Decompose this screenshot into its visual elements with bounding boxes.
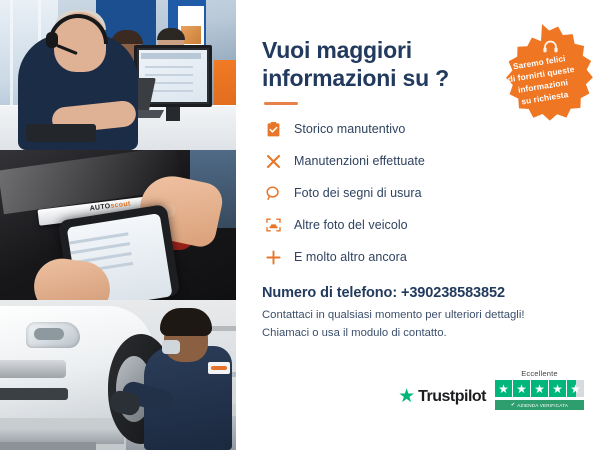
headline-line-2: informazioni su ? [262,65,449,91]
callout-badge: Saremo felici di fornirti queste informa… [490,22,594,126]
promo-card: AUTOscout Vuoi maggiori informazioni su … [0,0,600,450]
list-item: Foto dei segni di usura [262,183,578,203]
page-title: Vuoi maggiori informazioni su ? [262,36,477,92]
trustpilot-rating-label: Eccellente [521,369,558,378]
photo-call-center [0,0,236,150]
star-filled: ★ [549,380,566,397]
headline-line-1: Vuoi maggiori [262,37,412,63]
star-filled: ★ [513,380,530,397]
magnifier-icon [262,183,284,203]
contact-subtext-line-1: Contattaci in qualsiasi momento per ulte… [262,309,524,321]
feature-list: Storico manutentivo Manutenzioni effettu… [262,119,578,267]
title-divider [264,102,298,105]
feature-label: E molto altro ancora [294,250,407,264]
feature-label: Foto dei segni di usura [294,186,422,200]
trustpilot-star-icon: ★ [398,387,415,406]
contact-subtext-line-2: Chiamaci o usa il modulo di contatto. [262,327,447,339]
check-shield-icon: ✔ [511,402,515,408]
photo-column: AUTOscout [0,0,236,450]
list-item: E molto altro ancora [262,247,578,267]
trustpilot-stars: ★ ★ ★ ★ ★ [495,380,584,397]
phone-number[interactable]: Numero di telefono: +390238583852 [262,285,578,301]
trustpilot-logo: ★ Trustpilot [398,387,486,410]
content-panel: Vuoi maggiori informazioni su ? Saremo f… [236,0,600,450]
verified-badge-label: AZIENDA VERIFICATA [517,403,568,408]
trustpilot-rating-block: Eccellente ★ ★ ★ ★ ★ ✔ AZIENDA VERIFICAT… [495,369,584,410]
verified-badge: ✔ AZIENDA VERIFICATA [495,400,584,410]
trustpilot-widget[interactable]: ★ Trustpilot Eccellente ★ ★ ★ ★ ★ ✔ AZIE… [398,369,584,410]
scan-car-icon [262,215,284,235]
feature-label: Storico manutentivo [294,122,405,136]
list-item: Manutenzioni effettuate [262,151,578,171]
photo-mechanic-wheel [0,300,236,450]
star-half: ★ [567,380,584,397]
feature-label: Manutenzioni effettuate [294,154,425,168]
plus-icon [262,247,284,267]
trustpilot-name: Trustpilot [418,388,486,406]
wrench-cross-icon [262,151,284,171]
contact-subtext: Contattaci in qualsiasi momento per ulte… [262,306,578,343]
photo-car-inspection-ruler: AUTOscout [0,150,236,300]
star-filled: ★ [531,380,548,397]
list-item: Altre foto del veicolo [262,215,578,235]
clipboard-check-icon [262,119,284,139]
star-filled: ★ [495,380,512,397]
feature-label: Altre foto del veicolo [294,218,408,232]
